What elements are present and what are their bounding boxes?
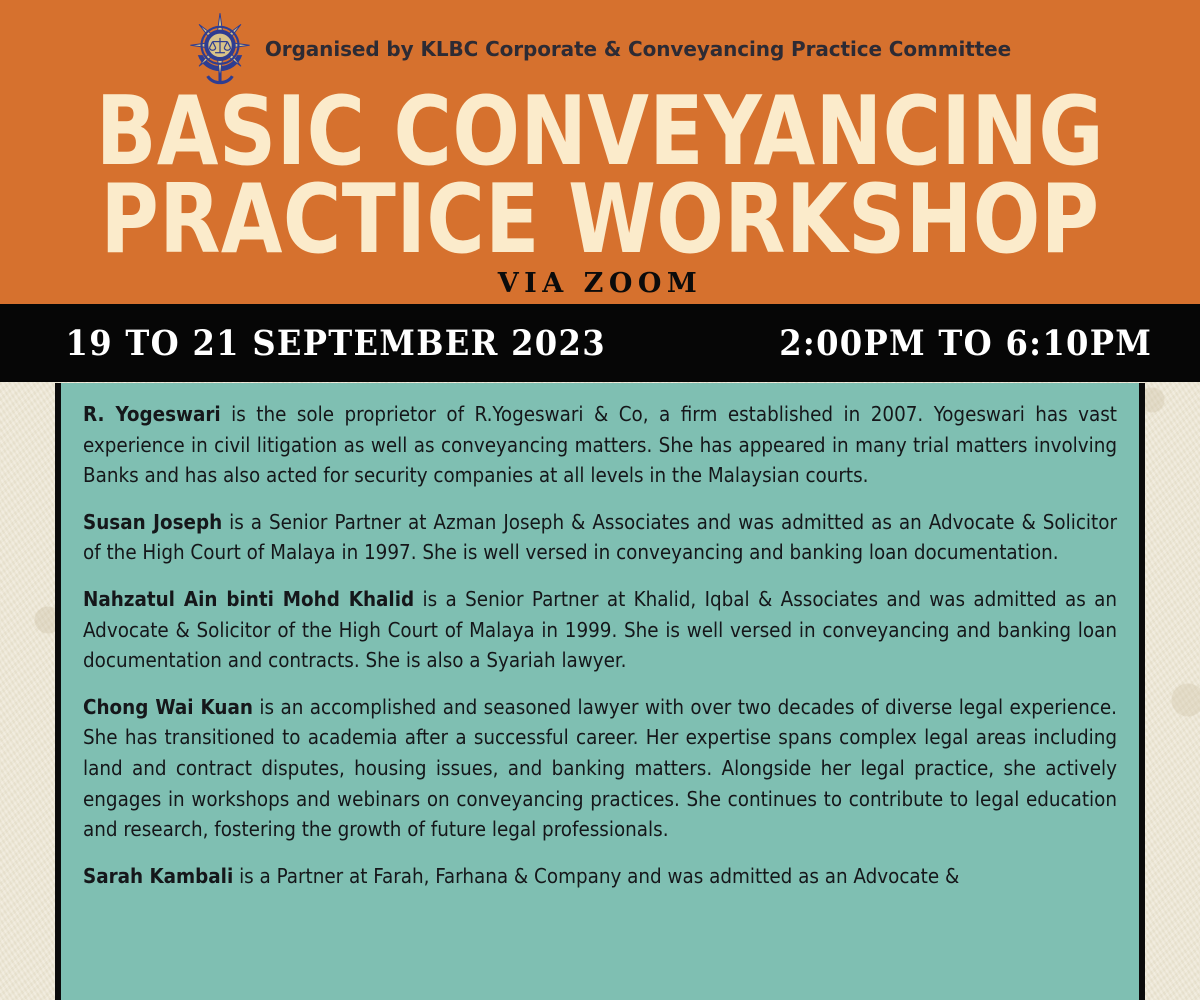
speaker-name: Nahzatul Ain binti Mohd Khalid <box>83 587 414 611</box>
title-line-2: PRACTICE WORKSHOP <box>42 176 1158 264</box>
organiser-label: Organised by KLBC Corporate & Conveyanci… <box>265 37 1011 61</box>
speaker-bio-paragraph: Nahzatul Ain binti Mohd Khalid is a Seni… <box>83 584 1117 676</box>
speaker-bios-panel: R. Yogeswari is the sole proprietor of R… <box>55 383 1145 1000</box>
speaker-name: Chong Wai Kuan <box>83 695 253 719</box>
date-range-label: 19 TO 21 SEPTEMBER 2023 <box>65 323 605 364</box>
speaker-name: Sarah Kambali <box>83 864 233 888</box>
speaker-bio-paragraph: Sarah Kambali is a Partner at Farah, Far… <box>83 861 1117 892</box>
poster-title: BASIC CONVEYANCING PRACTICE WORKSHOP <box>0 88 1200 264</box>
poster-subtitle: VIA ZOOM <box>0 268 1200 299</box>
speaker-bio-paragraph: R. Yogeswari is the sole proprietor of R… <box>83 399 1117 491</box>
time-range-label: 2:00PM TO 6:10PM <box>779 323 1152 364</box>
title-line-1: BASIC CONVEYANCING <box>42 88 1158 176</box>
speaker-bio-text: is the sole proprietor of R.Yogeswari & … <box>83 402 1117 487</box>
poster-header: Organised by KLBC Corporate & Conveyanci… <box>0 0 1200 304</box>
organiser-row: Organised by KLBC Corporate & Conveyanci… <box>0 18 1200 80</box>
speaker-bio-paragraph: Susan Joseph is a Senior Partner at Azma… <box>83 507 1117 568</box>
klbc-crest-icon <box>189 12 251 86</box>
speaker-bio-text: is a Partner at Farah, Farhana & Company… <box>233 864 959 888</box>
speaker-bio-list: R. Yogeswari is the sole proprietor of R… <box>61 383 1139 891</box>
speaker-bio-text: is a Senior Partner at Azman Joseph & As… <box>83 510 1117 565</box>
speaker-name: Susan Joseph <box>83 510 222 534</box>
date-time-bar: 19 TO 21 SEPTEMBER 2023 2:00PM TO 6:10PM <box>0 304 1200 382</box>
speaker-bio-paragraph: Chong Wai Kuan is an accomplished and se… <box>83 692 1117 845</box>
speaker-name: R. Yogeswari <box>83 402 221 426</box>
